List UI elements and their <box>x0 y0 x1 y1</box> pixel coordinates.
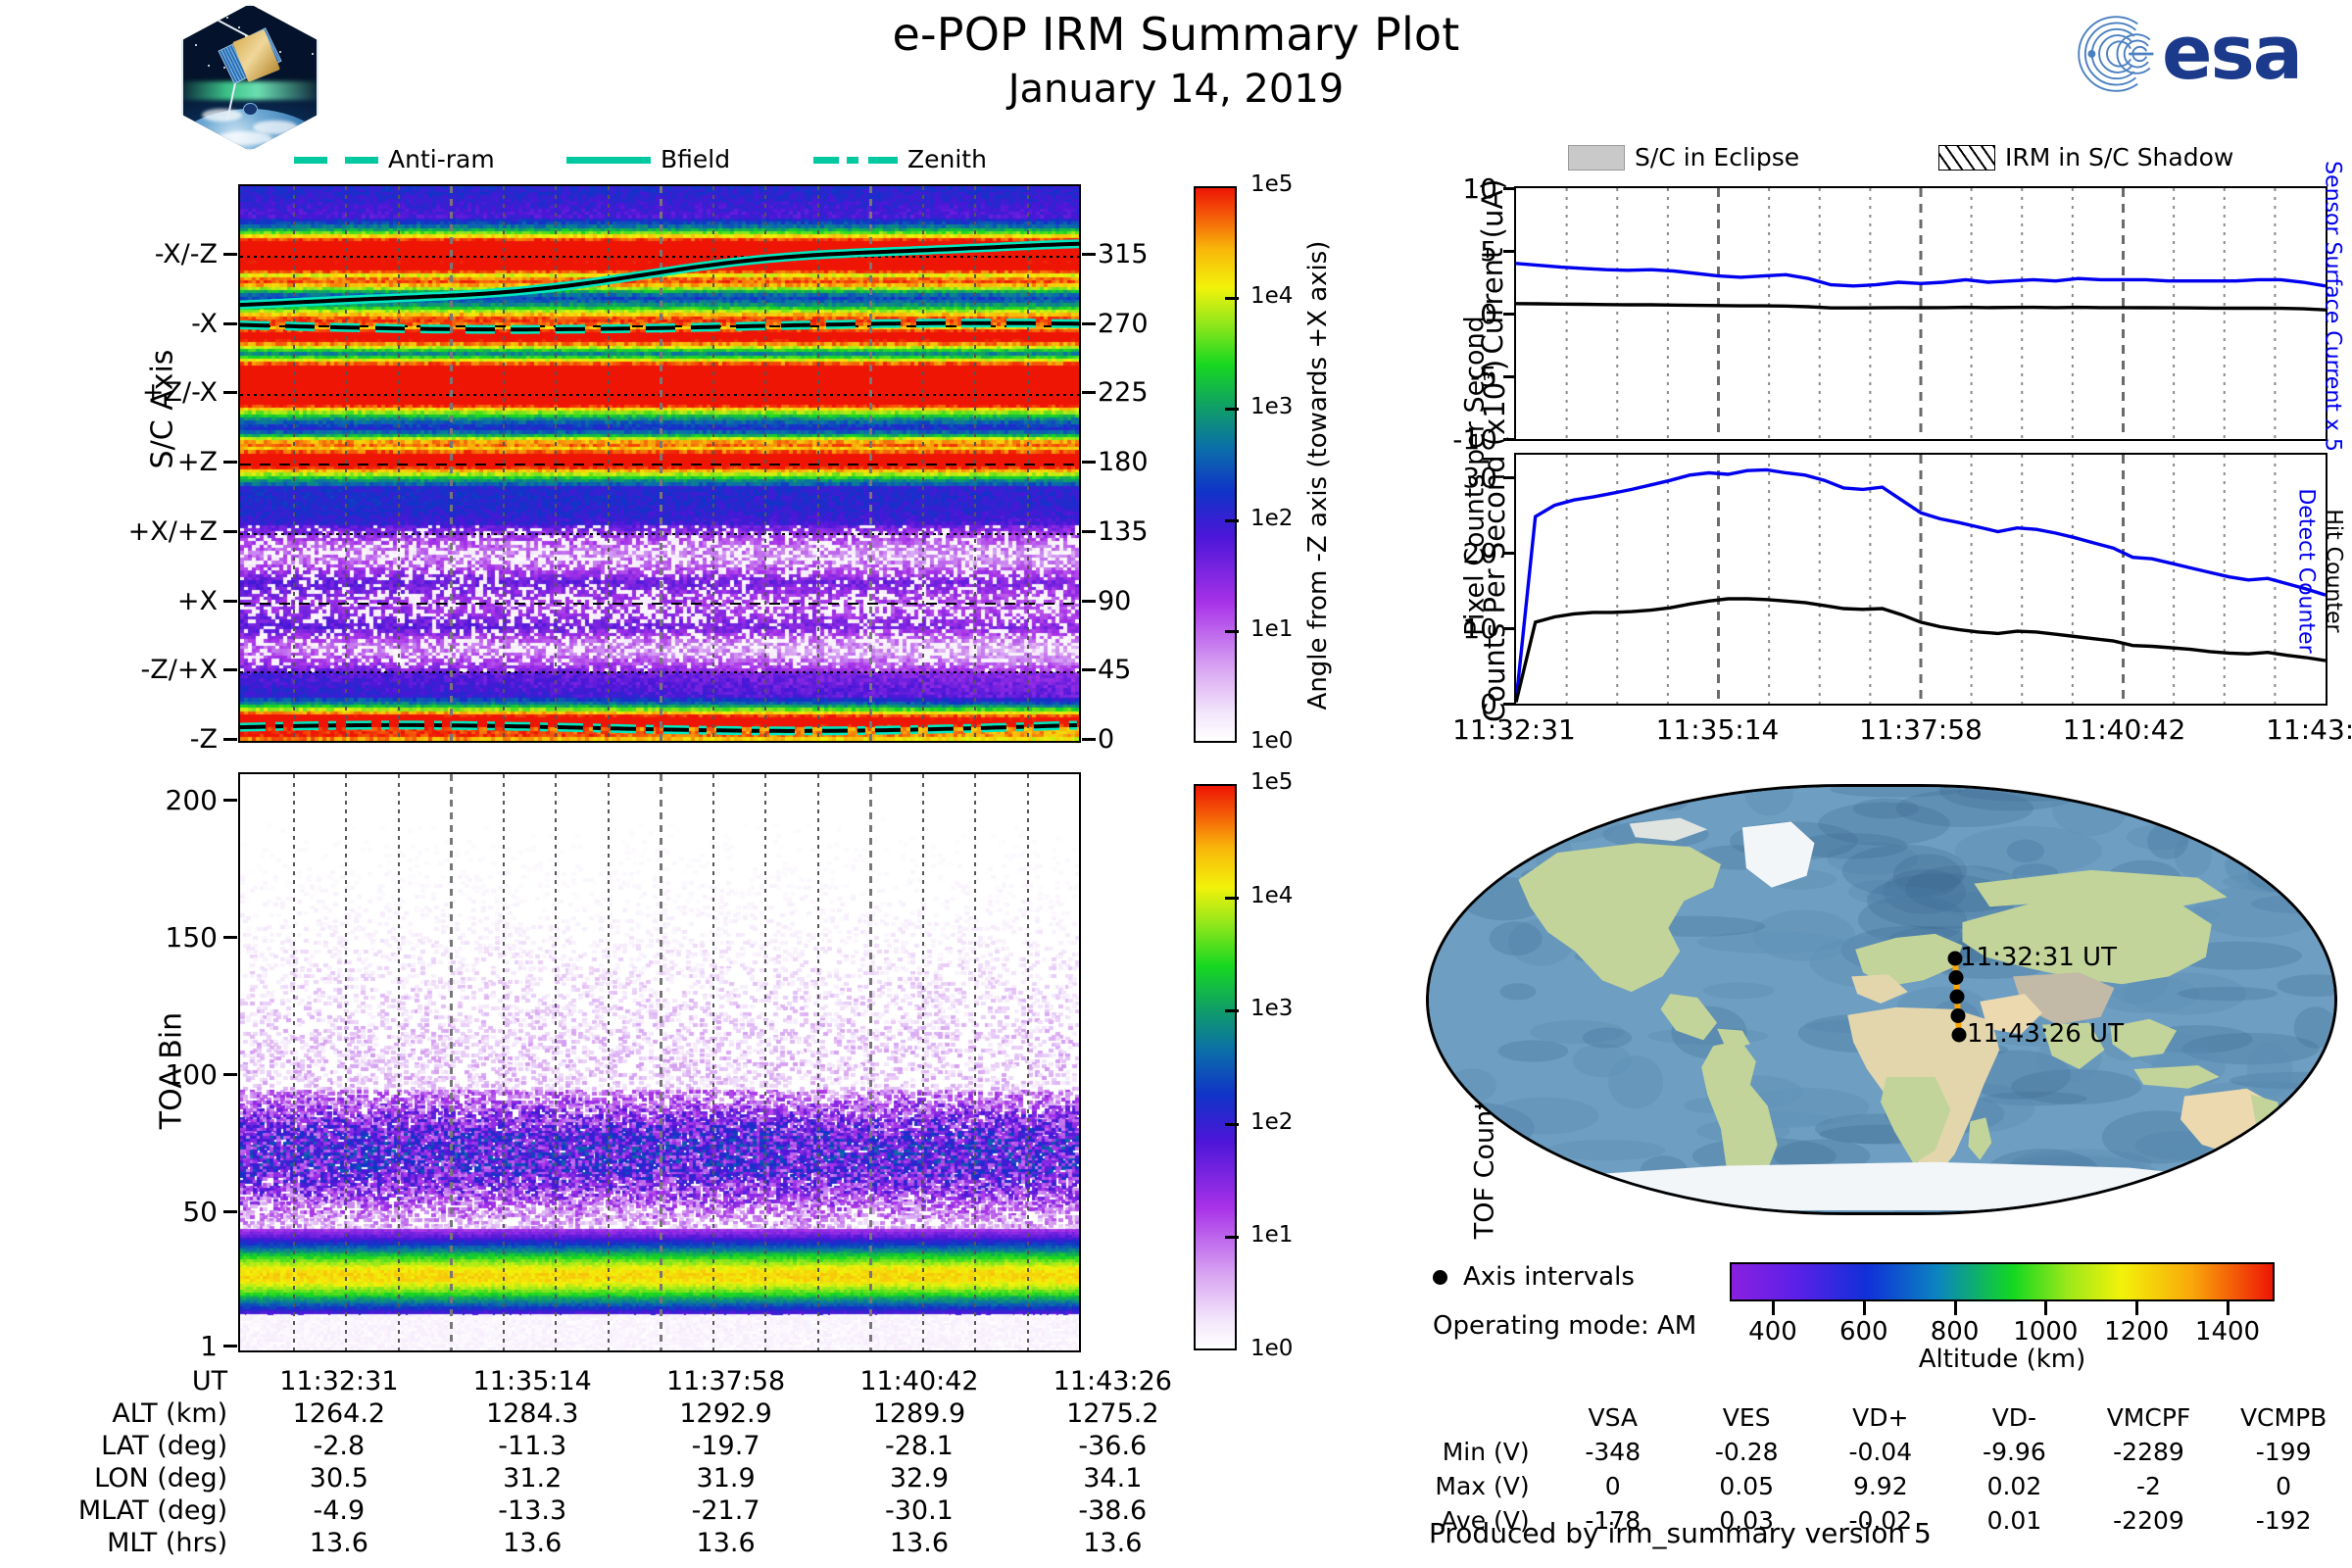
ephemeris-cell: 31.9 <box>630 1463 821 1494</box>
star-speck <box>185 9 187 11</box>
ephemeris-table: UT11:32:3111:35:1411:37:5811:40:4211:43:… <box>54 1364 1210 1560</box>
voltage-column-header: VD- <box>1948 1401 2081 1434</box>
shadow-hatch-swatch-icon <box>1938 145 1995 171</box>
star-speck <box>258 7 260 9</box>
star-speck <box>296 22 298 24</box>
legend-item-zenith: Zenith <box>813 145 987 173</box>
colorbar-tick-mark <box>1225 1236 1239 1239</box>
voltage-cell: -0.04 <box>1814 1436 1946 1468</box>
spectrogram-ytick-mark-right <box>1082 600 1096 603</box>
spectrogram-ytick-mark <box>223 668 237 671</box>
legend-item-anti-ram: Anti-ram <box>294 145 495 173</box>
voltage-row-label: Max (V) <box>1428 1470 1545 1502</box>
ephemeris-row-label: UT <box>56 1366 241 1396</box>
colorbar-tick-mark <box>1225 897 1239 900</box>
toa-vgrid <box>398 774 400 1350</box>
spectrogram-ytick-mark <box>223 530 237 533</box>
ephemeris-cell: -21.7 <box>630 1495 821 1526</box>
esa-emblem-icon <box>2068 10 2158 98</box>
colorbar-tick-label: 1e2 <box>1250 506 1293 531</box>
ephemeris-cell: -30.1 <box>823 1495 1014 1526</box>
ephemeris-cell: -38.6 <box>1017 1495 1208 1526</box>
toa-ytick-mark <box>223 936 237 939</box>
spectrogram-ytick-mark-right <box>1082 391 1096 394</box>
voltage-column-header: VCMPB <box>2217 1401 2350 1434</box>
voltage-column-header: VMCPF <box>2082 1401 2216 1434</box>
ephemeris-row-label: LAT (deg) <box>56 1431 241 1461</box>
spectrogram-ytick-right: 270 <box>1098 309 1149 339</box>
counts-xtick-label: 11:37:58 <box>1828 713 2014 746</box>
ephemeris-cell: -36.6 <box>1017 1431 1208 1461</box>
footer-produced-by: Produced by irm_summary version 5 <box>1429 1517 1932 1549</box>
spectrogram-ytick-right: 0 <box>1098 724 1114 755</box>
voltage-column-header: VES <box>1681 1401 1813 1434</box>
altitude-colorbar-label: Altitude (km) <box>1730 1345 2275 1374</box>
voltage-cell: 0 <box>1547 1470 1679 1502</box>
altitude-tick-mark <box>1863 1301 1866 1315</box>
voltage-cell: -348 <box>1547 1436 1679 1468</box>
ephemeris-cell: 11:43:26 <box>1017 1366 1208 1396</box>
star-speck <box>308 33 310 35</box>
plot-ytick-label: 0 <box>1390 298 1497 330</box>
sc-axis-spectrogram-panel[interactable] <box>238 184 1081 743</box>
colorbar-tick-mark <box>1225 1009 1239 1012</box>
colorbar-tick-label: 1e5 <box>1250 769 1293 795</box>
altitude-colorbar <box>1730 1262 2275 1301</box>
star-speck <box>190 13 192 15</box>
ephemeris-cell: -13.3 <box>437 1495 628 1526</box>
spectrogram-ytick-left: +X/+Z <box>0 516 218 547</box>
toa-ytick-mark <box>223 1073 237 1076</box>
altitude-tick-label: 1400 <box>2169 1317 2286 1347</box>
legend-label-irm-shadow: IRM in S/C Shadow <box>2005 143 2233 171</box>
spectrogram-ytick-mark-right <box>1082 668 1096 671</box>
toa-ytick-label: 50 <box>0 1196 218 1228</box>
toa-ytick-label: 100 <box>0 1058 218 1091</box>
ephemeris-cell: 13.6 <box>823 1528 1014 1558</box>
spectrogram-ytick-mark <box>223 322 237 325</box>
colorbar-tick-label: 1e1 <box>1250 1222 1293 1248</box>
ephemeris-row-label: MLT (hrs) <box>56 1528 241 1558</box>
voltage-cell: 9.92 <box>1814 1470 1946 1502</box>
ephemeris-cell: 13.6 <box>1017 1528 1208 1558</box>
spectrogram-ytick-mark-right <box>1082 530 1096 533</box>
counts-right-label-blue: Detect Counter <box>2294 449 2319 694</box>
ephemeris-cell: -11.3 <box>437 1431 628 1461</box>
altitude-tick-mark <box>1954 1301 1957 1315</box>
ephemeris-cell: 11:35:14 <box>437 1366 628 1396</box>
ground-track-marker <box>1952 1028 1967 1043</box>
ephemeris-cell: 1284.3 <box>437 1398 628 1429</box>
legend-label-anti-ram: Anti-ram <box>388 145 495 173</box>
spectrogram-ytick-mark-right <box>1082 461 1096 464</box>
toa-vgrid <box>293 774 295 1350</box>
voltage-cell: 0.01 <box>1948 1504 2081 1537</box>
spectrogram-ytick-left: +Z/-X <box>0 377 218 408</box>
spectrogram-ytick-left: +Z <box>0 447 218 477</box>
spectrogram-ytick-left: -Z <box>0 724 218 755</box>
cassiope-mission-patch-icon: CASSIOPE <box>181 4 318 151</box>
sensor-current-panel[interactable] <box>1514 186 2327 441</box>
toa-vgrid <box>503 774 505 1350</box>
colorbar-tick-mark <box>1225 519 1239 522</box>
colorbar-tick-label: 1e5 <box>1250 171 1293 197</box>
voltage-corner-cell <box>1428 1401 1545 1434</box>
star-speck <box>303 20 305 22</box>
table-row: ALT (km)1264.21284.31292.91289.91275.2 <box>56 1398 1208 1429</box>
ephemeris-row-label: MLAT (deg) <box>56 1495 241 1526</box>
ephemeris-cell: 30.5 <box>243 1463 434 1494</box>
legend-item-sc-eclipse: S/C in Eclipse <box>1568 143 1799 171</box>
voltage-cell: -199 <box>2217 1436 2350 1468</box>
spectrogram-ytick-right: 225 <box>1098 377 1149 408</box>
voltage-column-header: VSA <box>1547 1401 1679 1434</box>
voltage-cell: -9.96 <box>1948 1436 2081 1468</box>
table-row: MLT (hrs)13.613.613.613.613.6 <box>56 1528 1208 1558</box>
plot-ytick-label: 10 <box>1390 612 1497 645</box>
ephemeris-cell: -2.8 <box>243 1431 434 1461</box>
table-row: MLAT (deg)-4.9-13.3-21.7-30.1-38.6 <box>56 1495 1208 1526</box>
voltage-cell: 0 <box>2217 1470 2350 1502</box>
star-speck <box>218 17 220 19</box>
ephemeris-cell: 11:37:58 <box>630 1366 821 1396</box>
counts-right-label-black: Hit Counter <box>2322 449 2346 694</box>
counts-xtick-label: 11:40:42 <box>2032 713 2218 746</box>
colorbar-tick-label: 1e4 <box>1250 883 1293 908</box>
voltage-cell: -2 <box>2082 1470 2216 1502</box>
ephemeris-cell: 13.6 <box>437 1528 628 1558</box>
star-speck <box>208 65 210 67</box>
toa-vgrid <box>922 774 924 1350</box>
star-speck <box>195 44 197 46</box>
spectrogram-ytick-right: 315 <box>1098 239 1149 269</box>
legend-label-zenith: Zenith <box>907 145 987 173</box>
plot-ytick-label: 20 <box>1390 537 1497 569</box>
spectrogram-overlay-curves <box>240 186 1079 741</box>
operating-mode-label: Operating mode: AM <box>1433 1311 1696 1341</box>
legend-label-sc-eclipse: S/C in Eclipse <box>1635 143 1799 171</box>
axis-intervals-label: Axis intervals <box>1463 1262 1635 1292</box>
dot-marker-icon <box>1433 1270 1447 1285</box>
spectrogram-ytick-mark <box>223 461 237 464</box>
colorbar-tick-label: 1e0 <box>1250 1336 1293 1361</box>
page-title: e-POP IRM Summary Plot <box>686 8 1666 61</box>
toa-vgrid <box>712 774 714 1350</box>
ephemeris-cell: 1275.2 <box>1017 1398 1208 1429</box>
toa-vgrid <box>869 774 872 1350</box>
ground-track-map[interactable]: 11:32:31 UT 11:43:26 UT <box>1426 784 2337 1215</box>
toa-vgrid <box>555 774 557 1350</box>
ephemeris-cell: -4.9 <box>243 1495 434 1526</box>
colorbar-tick-mark <box>1225 630 1239 633</box>
voltage-cell: -0.28 <box>1681 1436 1813 1468</box>
ephemeris-row-label: ALT (km) <box>56 1398 241 1429</box>
table-row: Max (V)00.059.920.02-20 <box>1428 1470 2350 1502</box>
spectrogram-legend: Anti-ram Bfield Zenith <box>294 145 1000 176</box>
spectrogram-ytick-right: 90 <box>1098 586 1131 616</box>
aurora-band <box>181 81 318 100</box>
spectrogram-ytick-left: -Z/+X <box>0 655 218 685</box>
axis-intervals-legend: Axis intervals <box>1433 1262 1635 1292</box>
ephemeris-row-label: LON (deg) <box>56 1463 241 1494</box>
ephemeris-cell: 31.2 <box>437 1463 628 1494</box>
table-header-row: VSAVESVD+VD-VMCPFVCMPB <box>1428 1401 2350 1434</box>
spectrogram-ytick-left: -X <box>0 309 218 339</box>
toa-ytick-mark <box>223 1345 237 1347</box>
pixel-counts-colorbar <box>1194 186 1237 743</box>
esa-logo: esa <box>2068 8 2334 100</box>
cloud-patch <box>218 131 270 144</box>
toa-ytick-label: 150 <box>0 921 218 954</box>
toa-vgrid <box>345 774 347 1350</box>
ground-track-marker <box>1950 990 1965 1004</box>
voltage-cell: -2209 <box>2082 1504 2216 1537</box>
colorbar-tick-mark <box>1225 408 1239 411</box>
altitude-tick-mark <box>2135 1301 2138 1315</box>
page-subtitle: January 14, 2019 <box>686 67 1666 112</box>
voltage-cell: -192 <box>2217 1504 2350 1537</box>
voltage-row-label: Min (V) <box>1428 1436 1545 1468</box>
legend-label-bfield: Bfield <box>661 145 730 173</box>
toa-ytick-mark <box>223 1210 237 1213</box>
colorbar-tick-label: 1e0 <box>1250 728 1293 754</box>
spectrogram-ytick-mark <box>223 253 237 256</box>
toa-vgrid <box>764 774 766 1350</box>
star-speck <box>226 17 228 19</box>
counts-per-second-panel[interactable] <box>1514 453 2327 706</box>
tof-counts-colorbar <box>1194 784 1237 1350</box>
colorbar-tick-label: 1e3 <box>1250 996 1293 1021</box>
map-end-time-label: 11:43:26 UT <box>1967 1019 2124 1049</box>
table-row: Min (V)-348-0.28-0.04-9.96-2289-199 <box>1428 1436 2350 1468</box>
toa-vgrid <box>974 774 976 1350</box>
altitude-tick-mark <box>1772 1301 1775 1315</box>
toa-vgrid <box>817 774 819 1350</box>
ephemeris-cell: 1264.2 <box>243 1398 434 1429</box>
spectrogram-ytick-mark <box>223 391 237 394</box>
plot-ytick-label: 10 <box>1390 172 1497 205</box>
spectrogram-ytick-mark-right <box>1082 322 1096 325</box>
counts-plot <box>1516 455 2326 704</box>
star-speck <box>186 17 188 19</box>
esa-wordmark: esa <box>2162 12 2301 94</box>
ephemeris-cell: 1289.9 <box>823 1398 1014 1429</box>
ephemeris-cell: -19.7 <box>630 1431 821 1461</box>
toa-vgrid <box>450 774 453 1350</box>
counts-xtick-label: 11:35:14 <box>1625 713 1811 746</box>
spectrogram-ytick-right: 45 <box>1098 655 1131 685</box>
star-speck <box>279 51 281 53</box>
toa-ytick-label: 200 <box>0 784 218 816</box>
spectrogram-ytick-mark <box>223 738 237 741</box>
toa-bin-spectrogram-panel[interactable] <box>238 772 1081 1352</box>
colorbar-tick-mark <box>1225 1123 1239 1126</box>
colorbar-tick-label: 1e3 <box>1250 394 1293 419</box>
spectrogram-ytick-left: -X/-Z <box>0 239 218 269</box>
ephemeris-cell: 11:40:42 <box>823 1366 1014 1396</box>
ground-track-marker <box>1949 970 1964 985</box>
current-right-label-black: Sensor Surface Current <box>2348 160 2352 454</box>
colorbar-tick-label: 1e4 <box>1250 283 1293 309</box>
map-start-time-label: 11:32:31 UT <box>1960 943 2117 972</box>
spectrogram-ylabel-right: Angle from -Z axis (towards +X axis) <box>1303 201 1333 750</box>
star-speck <box>195 8 197 10</box>
star-speck <box>238 26 240 28</box>
counts-xtick-label: 11:43:26 <box>2234 713 2352 746</box>
spectrogram-ytick-right: 135 <box>1098 516 1149 547</box>
toa-ytick-mark <box>223 799 237 802</box>
colorbar-tick-label: 1e1 <box>1250 616 1293 642</box>
spectrogram-ytick-left: +X <box>0 586 218 616</box>
table-row: UT11:32:3111:35:1411:37:5811:40:4211:43:… <box>56 1366 1208 1396</box>
spectrogram-ytick-mark-right <box>1082 738 1096 741</box>
eclipse-legend: S/C in Eclipse IRM in S/C Shadow <box>1568 143 2313 176</box>
toa-vgrid <box>608 774 610 1350</box>
toa-vgrid <box>1027 774 1029 1350</box>
ephemeris-cell: 13.6 <box>243 1528 434 1558</box>
ephemeris-cell: 34.1 <box>1017 1463 1208 1494</box>
spectrogram-ytick-right: 180 <box>1098 447 1149 477</box>
colorbar-tick-label: 1e2 <box>1250 1109 1293 1135</box>
toa-vgrid <box>660 774 662 1350</box>
table-row: LAT (deg)-2.8-11.3-19.7-28.1-36.6 <box>56 1431 1208 1461</box>
ephemeris-cell: 32.9 <box>823 1463 1014 1494</box>
current-right-label-blue: Sensor Surface Current x 5 <box>2321 160 2345 454</box>
altitude-tick-mark <box>2044 1301 2047 1315</box>
plot-ytick-label: 5 <box>1390 235 1497 268</box>
star-speck <box>190 28 192 30</box>
star-speck <box>276 16 278 18</box>
altitude-tick-mark <box>2227 1301 2229 1315</box>
legend-item-bfield: Bfield <box>566 145 730 173</box>
ephemeris-cell: 11:32:31 <box>243 1366 434 1396</box>
toa-ytick-label: 1 <box>0 1330 218 1362</box>
ground-track-overlay <box>1426 784 2337 1215</box>
spectrogram-ytick-mark <box>223 600 237 603</box>
ephemeris-cell: -28.1 <box>823 1431 1014 1461</box>
voltage-cell: -2289 <box>2082 1436 2216 1468</box>
ephemeris-cell: 1292.9 <box>630 1398 821 1429</box>
voltage-cell: 0.05 <box>1681 1470 1813 1502</box>
counts-xtick-label: 11:32:31 <box>1421 713 1607 746</box>
star-speck <box>296 14 298 16</box>
ground-track-marker <box>1951 1008 1966 1023</box>
eclipse-swatch-icon <box>1568 145 1625 171</box>
star-speck <box>312 53 314 55</box>
legend-item-irm-shadow: IRM in S/C Shadow <box>1938 143 2233 171</box>
plot-ytick-label: 30 <box>1390 462 1497 494</box>
ephemeris-cell: 13.6 <box>630 1528 821 1558</box>
spectrogram-ytick-mark-right <box>1082 253 1096 256</box>
sensor-current-plot <box>1516 188 2326 439</box>
voltage-column-header: VD+ <box>1814 1401 1946 1434</box>
table-row: LON (deg)30.531.231.932.934.1 <box>56 1463 1208 1494</box>
voltage-cell: 0.02 <box>1948 1470 2081 1502</box>
colorbar-tick-mark <box>1225 297 1239 300</box>
